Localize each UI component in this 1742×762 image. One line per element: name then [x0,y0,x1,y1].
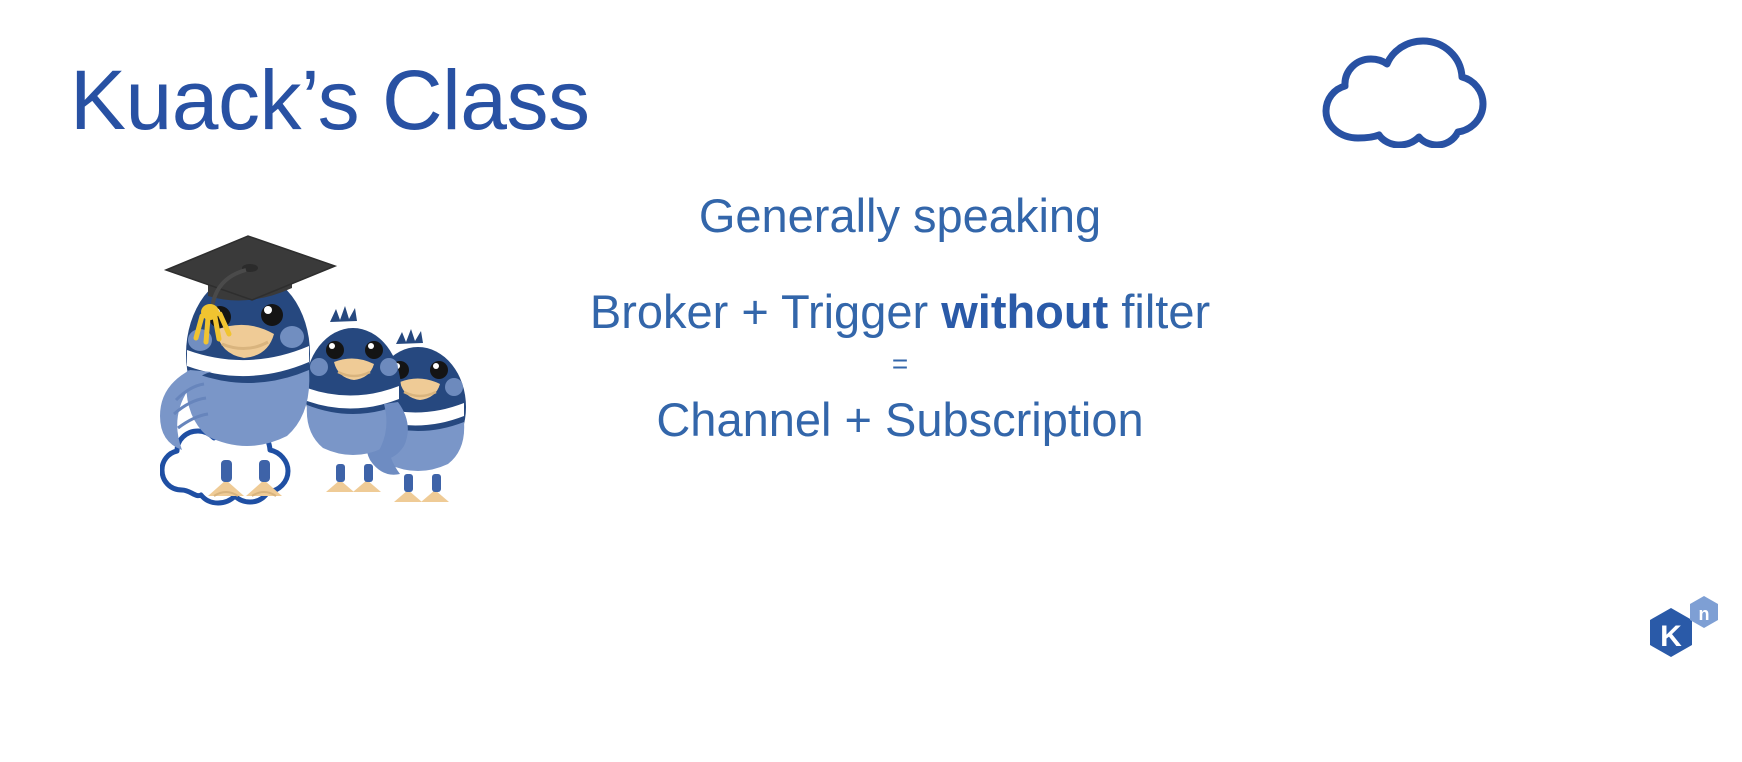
page-title: Kuack’s Class [70,58,589,142]
equation-emphasis-without: without [941,285,1108,338]
knative-birds-illustration [160,222,505,517]
svg-text:K: K [1660,620,1682,653]
svg-text:n: n [1699,604,1710,624]
slide-body-text: Generally speaking Broker + Trigger with… [520,190,1280,446]
knative-logo: K n [1640,592,1726,670]
body-line-result: Channel + Subscription [520,394,1280,446]
body-line-equals-sign: = [520,349,1280,380]
equation-prefix: Broker + Trigger [590,285,941,338]
equation-suffix: filter [1108,285,1210,338]
graduate-bird [160,236,335,496]
presentation-slide: Kuack’s Class [0,0,1742,762]
body-line-generally-speaking: Generally speaking [520,190,1280,242]
cloud-outline-logo [1306,28,1496,148]
body-line-equation: Broker + Trigger without filter [520,286,1280,338]
